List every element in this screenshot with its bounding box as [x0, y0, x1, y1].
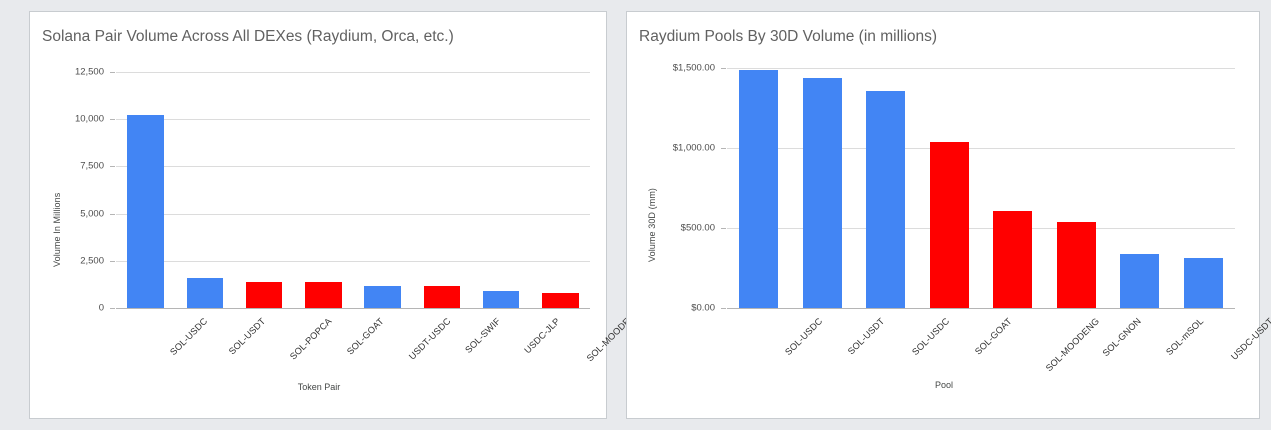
gridline — [116, 261, 590, 262]
x-axis-category-label: SOL-USDC — [168, 316, 209, 357]
y-axis-tick-label: $0.00 — [691, 303, 715, 314]
x-axis-line — [727, 308, 1235, 309]
y-axis-tick-mark — [110, 214, 115, 215]
y-axis-tick-mark — [721, 308, 726, 309]
chart-title-right: Raydium Pools By 30D Volume (in millions… — [639, 28, 937, 46]
y-axis-title-right: Volume 30D (mm) — [647, 188, 657, 262]
y-axis-tick-label: 12,500 — [75, 67, 104, 78]
bar[interactable] — [1120, 254, 1159, 308]
gridline — [116, 214, 590, 215]
bar[interactable] — [542, 293, 579, 308]
y-axis-title-left: Volume In Millions — [52, 193, 62, 267]
y-axis-tick-label: $1,000.00 — [673, 143, 715, 154]
bar[interactable] — [187, 278, 224, 308]
gridline — [727, 68, 1235, 69]
chart-panel-left[interactable]: Solana Pair Volume Across All DEXes (Ray… — [29, 11, 607, 419]
x-axis-category-label: SOL-POPCA — [288, 316, 334, 362]
y-axis-tick-label: $500.00 — [681, 223, 715, 234]
charts-board: Solana Pair Volume Across All DEXes (Ray… — [0, 0, 1271, 430]
x-axis-category-label: SOL-GOAT — [973, 316, 1014, 357]
x-axis-category-label: SOL-MOODENG — [1044, 316, 1101, 373]
bar[interactable] — [424, 286, 461, 308]
x-axis-category-label: SOL-SWIF — [463, 316, 502, 355]
bar[interactable] — [866, 91, 905, 308]
x-axis-line — [116, 308, 590, 309]
x-axis-title-left: Token Pair — [30, 382, 608, 392]
bar[interactable] — [1057, 222, 1096, 308]
y-axis-tick-mark — [721, 68, 726, 69]
y-axis-tick-label: 7,500 — [80, 161, 104, 172]
y-axis-tick-mark — [721, 228, 726, 229]
x-axis-title-right: Pool — [627, 380, 1261, 390]
gridline — [116, 72, 590, 73]
y-axis-tick-mark — [110, 72, 115, 73]
y-axis-tick-mark — [110, 166, 115, 167]
y-axis-tick-mark — [110, 261, 115, 262]
chart-title-left: Solana Pair Volume Across All DEXes (Ray… — [42, 28, 454, 46]
gridline — [116, 119, 590, 120]
x-axis-category-label: SOL-GOAT — [345, 316, 386, 357]
gridline — [116, 166, 590, 167]
x-axis-category-label: SOL-GNON — [1101, 316, 1143, 358]
plot-area-right: $0.00$500.00$1,000.00$1,500.00SOL-USDCSO… — [727, 68, 1235, 308]
y-axis-tick-label: 10,000 — [75, 114, 104, 125]
bar[interactable] — [483, 291, 520, 308]
x-axis-category-label: SOL-USDC — [783, 316, 824, 357]
y-axis-tick-label: 5,000 — [80, 208, 104, 219]
bar[interactable] — [1184, 258, 1223, 308]
bar[interactable] — [127, 115, 164, 308]
bar[interactable] — [364, 286, 401, 308]
y-axis-tick-mark — [110, 308, 115, 309]
y-axis-tick-label: 2,500 — [80, 255, 104, 266]
x-axis-category-label: USDT-USDC — [407, 316, 453, 362]
bar[interactable] — [993, 211, 1032, 308]
y-axis-tick-mark — [110, 119, 115, 120]
x-axis-category-label: USDC-JLP — [523, 316, 562, 355]
x-axis-category-label: USDC-USDT — [1229, 316, 1271, 362]
x-axis-category-label: SOL-USDT — [227, 316, 267, 356]
y-axis-tick-label: 0 — [99, 303, 104, 314]
x-axis-category-label: SOL-mSOL — [1164, 316, 1205, 357]
plot-area-left: 02,5005,0007,50010,00012,500SOL-USDCSOL-… — [116, 72, 590, 308]
bar[interactable] — [930, 142, 969, 308]
chart-panel-right[interactable]: Raydium Pools By 30D Volume (in millions… — [626, 11, 1260, 419]
bar[interactable] — [305, 282, 342, 308]
x-axis-category-label: SOL-USDT — [846, 316, 886, 356]
x-axis-category-label: SOL-USDC — [910, 316, 951, 357]
y-axis-tick-mark — [721, 148, 726, 149]
bar[interactable] — [246, 282, 283, 308]
y-axis-tick-label: $1,500.00 — [673, 63, 715, 74]
bar[interactable] — [739, 70, 778, 308]
bar[interactable] — [803, 78, 842, 308]
